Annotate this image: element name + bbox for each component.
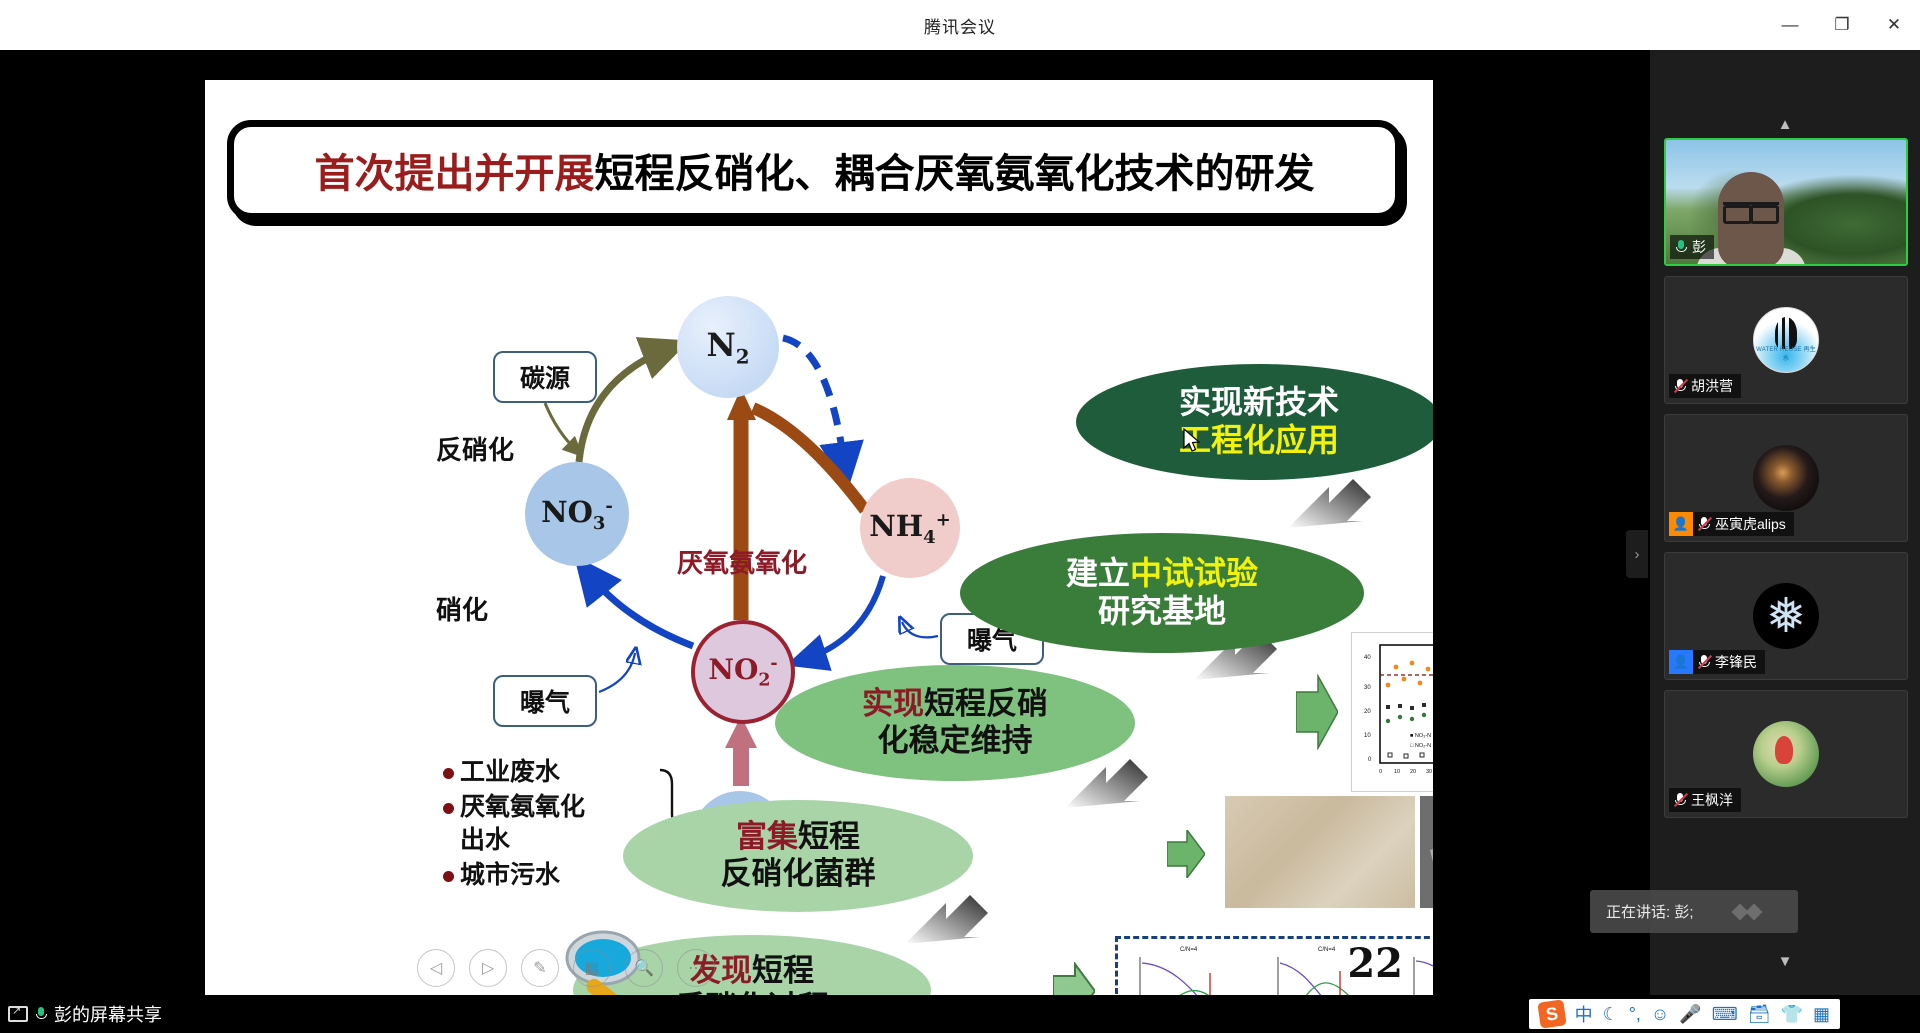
microphone-muted-icon [1673,792,1687,808]
mic-icon[interactable]: 🎤 [1679,1004,1701,1025]
ellipse-line-1: 实现新技术 [1179,384,1339,422]
microphone-muted-icon [1697,654,1711,670]
figure-granule-photo [1225,796,1415,908]
more-options-icon[interactable]: ⋯ [677,949,715,987]
ellipse-line-2: 反硝化菌群 [721,856,876,893]
avatar: WATER REUSE 再生水 [1753,307,1819,373]
ellipse-line-1-black: 短程 [798,819,860,855]
ellipse-line-1: 建立中试试验 [1066,555,1258,593]
bullet-dot-icon [443,803,454,814]
window-controls: — ❐ ✕ [1764,0,1920,50]
nar-chart-svg: 80% [1352,633,1433,793]
participant-name: 王枫洋 [1691,790,1733,810]
svg-text:20: 20 [1410,769,1416,775]
pen-tool-icon[interactable]: ✎ [521,949,559,987]
slide-title: 首次提出并开展短程反硝化、耦合厌氧氨氧化技术的研发 [315,141,1315,199]
avatar-caption: WATER REUSE 再生水 [1754,344,1818,362]
sem-texture [1420,796,1433,908]
apps-icon[interactable]: ▦ [1813,1004,1830,1025]
participant-tile[interactable]: WATER REUSE 再生水 胡洪营 [1664,276,1908,404]
zoom-tool-icon[interactable]: 🔍 [625,949,663,987]
node-ammonium: NH4+ [860,478,960,578]
ellipse-stable-maintenance: 实现短程反硝 化稳定维持 [775,665,1135,781]
microphone-muted-icon [1697,516,1711,532]
window-title: 腾讯会议 [924,13,996,38]
close-icon[interactable]: ✕ [1868,0,1920,50]
svg-text:20: 20 [1364,709,1371,715]
slide-title-banner: 首次提出并开展短程反硝化、耦合厌氧氨氧化技术的研发 [227,120,1402,220]
microphone-muted-icon [1673,378,1687,394]
ellipse-line-1-white: 建立 [1066,554,1130,592]
slide-title-rest: 短程反硝化、耦合厌氧氨氧化技术的研发 [595,151,1315,197]
microphone-on-icon [1674,239,1688,255]
node-ammonium-label: NH4+ [869,509,951,548]
label-anammox: 厌氧氨氧化 [677,543,807,580]
svg-text:10: 10 [1394,769,1400,775]
scroll-down-icon[interactable]: ▼ [1650,945,1920,977]
participant-name: 彭 [1692,237,1706,257]
punctuation-icon[interactable]: °, [1629,1004,1641,1025]
language-mode-icon[interactable]: 中 [1575,1001,1593,1027]
skin-icon[interactable]: 👕 [1781,1004,1803,1025]
svg-text:40: 40 [1364,655,1371,661]
participant-namebar: 王枫洋 [1669,788,1741,812]
ellipse-enrich-bacteria: 富集短程 反硝化菌群 [623,800,973,912]
avatar [1753,721,1819,787]
screen-share-icon [8,1006,28,1022]
influent-source-list: 工业废水 厌氧氨氧化 出水 城市污水 [443,755,653,893]
svg-text:C/N=4: C/N=4 [1180,947,1198,953]
svg-text:■ NO₃-N inatial: ■ NO₃-N inatial [1410,733,1433,739]
participant-namebar: 胡洪营 [1669,374,1741,398]
ellipse-engineering-application: 实现新技术 工程化应用 [1076,364,1433,480]
participant-namebar: 👤 巫寅虎alips [1669,512,1794,536]
slide-number: 22 [1347,940,1403,987]
ellipse-line-2: 工程化应用 [1179,422,1339,460]
screen-share-indicator[interactable]: 彭的屏幕共享 [0,1001,162,1027]
list-item: 工业废水 [443,755,653,788]
toolbox-icon[interactable]: 🗃 [1748,1004,1771,1025]
microphone-on-icon [34,1006,48,1022]
participant-tile[interactable]: 王枫洋 [1664,690,1908,818]
node-nitrate-top-label: NO3- [541,495,613,534]
loading-indicator-icon [1734,906,1760,918]
green-arrow-icon [1296,674,1338,750]
list-item: 城市污水 [443,858,653,891]
keyboard-icon[interactable]: ⌨ [1712,1004,1738,1025]
svg-text:□ NO₂-N eff: □ NO₂-N eff [1410,743,1433,749]
figure-sem-photo [1420,796,1433,908]
participant-name: 巫寅虎alips [1715,514,1786,534]
ellipse-line-1-red: 实现 [862,686,924,722]
figure-nar-timeseries: 80% [1351,632,1433,792]
svg-text:C/N=4: C/N=4 [1318,947,1336,953]
node-n2-label: N2 [706,326,749,368]
sogou-logo-icon[interactable]: S [1537,999,1566,1028]
previous-slide-icon[interactable]: ◁ [417,949,455,987]
speaking-tooltip: 正在讲话: 彭; [1590,890,1798,933]
svg-text:30: 30 [1364,685,1371,691]
maximize-icon[interactable]: ❐ [1816,0,1868,50]
next-slide-icon[interactable]: ▷ [469,949,507,987]
node-nitrite-label: NO2- [708,653,777,691]
scroll-up-icon[interactable]: ▲ [1650,108,1920,140]
label-nitrification: 硝化 [436,590,488,627]
presentation-toolbar: ◁ ▷ ✎ ▦ 🔍 ⋯ [417,949,715,987]
host-badge-icon: 👤 [1669,512,1693,536]
list-item-label: 厌氧氨氧化 出水 [460,790,585,856]
bullet-dot-icon [443,768,454,779]
speaking-tooltip-text: 正在讲话: 彭; [1606,901,1694,922]
ellipse-line-1: 富集短程 [736,819,860,856]
participant-tiles: 彭 WATER REUSE 再生水 胡洪营 [1664,138,1908,828]
participant-panel: › ▲ 彭 W [1650,50,1920,1033]
svg-text:0: 0 [1368,757,1372,763]
ellipse-line-1-yellow: 中试试验 [1130,554,1258,592]
avatar [1753,583,1819,649]
participant-nametag: 彭 [1670,235,1714,259]
ellipse-line-2: 化稳定维持 [878,723,1033,760]
ime-toolbar: S 中 ☾ °, ☺ 🎤 ⌨ 🗃 👕 ▦ [1529,999,1840,1029]
slide-title-highlight: 首次提出并开展 [315,151,595,197]
all-slides-icon[interactable]: ▦ [573,949,611,987]
list-item: 厌氧氨氧化 出水 [443,790,653,856]
svg-text:0: 0 [1379,769,1382,775]
ellipse-line-1: 实现短程反硝 [862,686,1048,723]
participant-tile[interactable]: 👤 巫寅虎alips [1664,414,1908,542]
shared-slide[interactable]: 首次提出并开展短程反硝化、耦合厌氧氨氧化技术的研发 [205,80,1433,1005]
label-aeration-left: 曝气 [493,675,597,727]
svg-text:10: 10 [1364,733,1371,739]
screen-share-label: 彭的屏幕共享 [54,1001,162,1027]
participant-nametag: 巫寅虎alips [1693,512,1794,536]
list-item-label: 工业废水 [460,755,560,788]
green-arrow-icon [1167,830,1205,878]
participant-nametag: 胡洪营 [1669,374,1741,398]
ellipse-pilot-base: 建立中试试验 研究基地 [960,533,1364,653]
cohost-badge-icon: 👤 [1669,650,1693,674]
emoji-icon[interactable]: ☺ [1651,1004,1669,1025]
participant-name: 胡洪营 [1691,376,1733,396]
avatar [1753,445,1819,511]
node-n2: N2 [677,296,779,398]
participant-nametag: 王枫洋 [1669,788,1741,812]
participant-nametag: 李锋民 [1693,650,1765,674]
minimize-icon[interactable]: — [1764,0,1816,50]
bullet-dot-icon [443,871,454,882]
ellipse-line-1-black: 短程 [752,953,814,989]
ellipse-line-2: 研究基地 [1098,593,1226,631]
participant-namebar: 👤 李锋民 [1669,650,1765,674]
window-titlebar: 腾讯会议 — ❐ ✕ [0,0,1920,50]
glasses-icon [1723,202,1779,216]
moon-icon[interactable]: ☾ [1603,1004,1619,1025]
taskbar: 彭的屏幕共享 S 中 ☾ °, ☺ 🎤 ⌨ 🗃 👕 ▦ [0,995,1920,1033]
list-item-label: 城市污水 [460,858,560,891]
label-denitrification: 反硝化 [436,430,514,467]
participant-tile[interactable]: 彭 [1664,138,1908,266]
label-carbon-source: 碳源 [493,351,597,403]
ellipse-line-1-red: 富集 [736,819,798,855]
node-nitrate-top: NO3- [525,462,629,566]
ellipse-line-1-black: 短程反硝 [924,686,1048,722]
participant-name: 李锋民 [1715,652,1757,672]
participant-tile[interactable]: 👤 李锋民 [1664,552,1908,680]
collapse-panel-icon[interactable]: › [1626,530,1648,578]
svg-text:30: 30 [1426,769,1432,775]
meeting-stage: 首次提出并开展短程反硝化、耦合厌氧氨氧化技术的研发 [0,50,1920,1033]
participant-namebar: 彭 [1670,235,1714,259]
